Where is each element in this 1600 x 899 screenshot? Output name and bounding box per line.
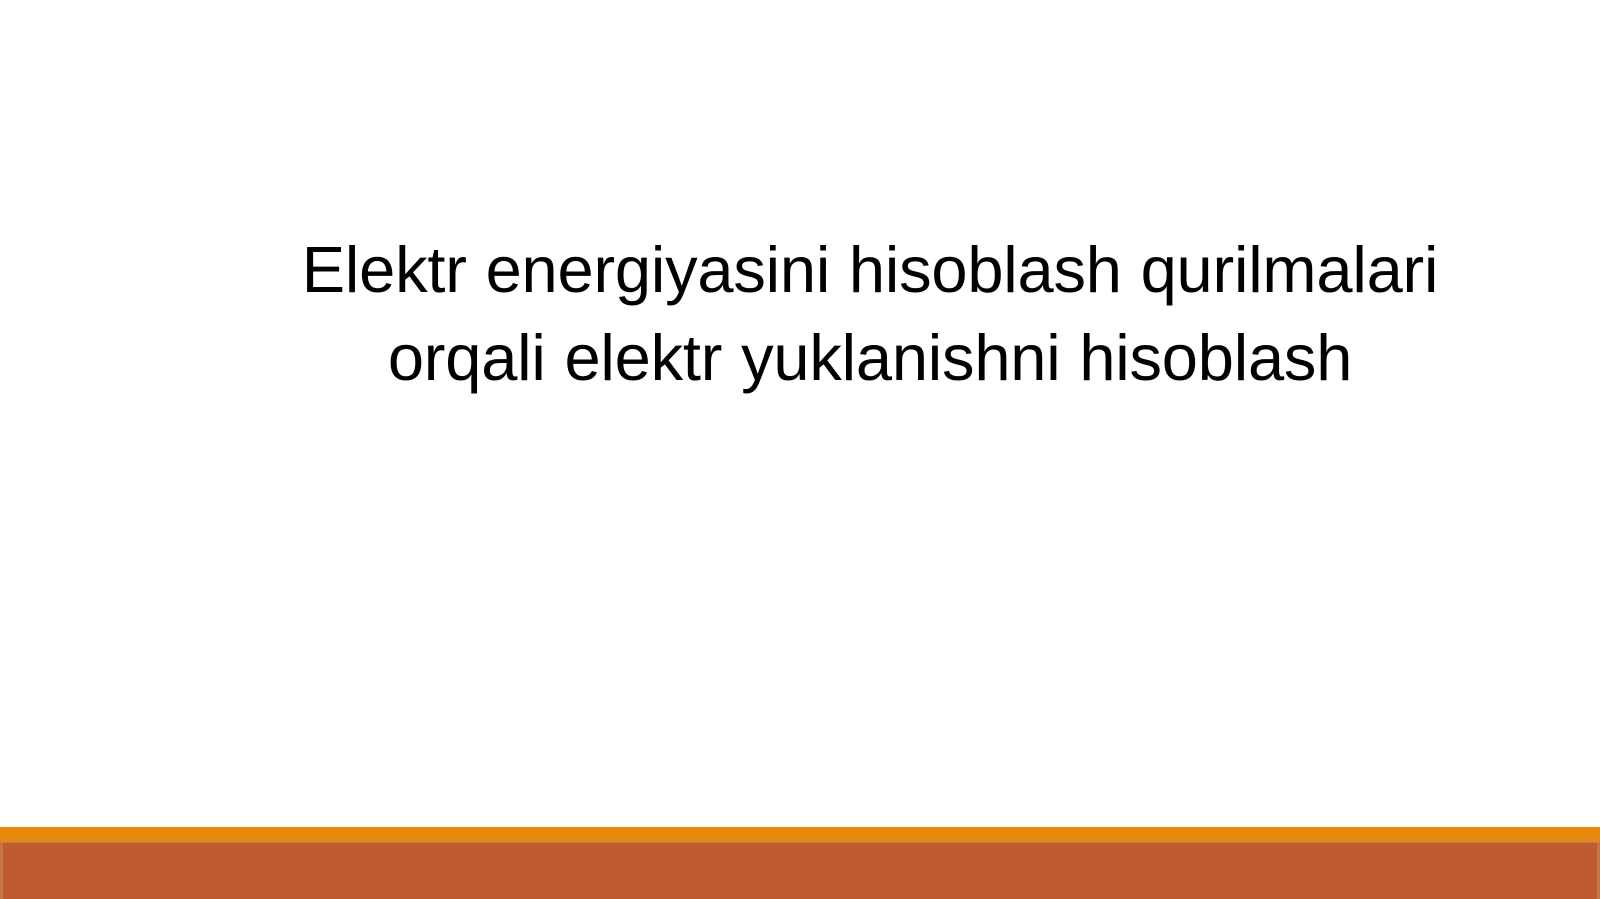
- page-title: Elektr energiyasini hisoblash qurilmalar…: [282, 226, 1458, 402]
- slide-footer-decoration: [0, 827, 1600, 899]
- accent-stripe: [0, 827, 1600, 842]
- slide-title-placeholder[interactable]: Elektr energiyasini hisoblash qurilmalar…: [282, 226, 1458, 526]
- accent-band: [0, 842, 1600, 899]
- presentation-slide: Elektr energiyasini hisoblash qurilmalar…: [0, 0, 1600, 899]
